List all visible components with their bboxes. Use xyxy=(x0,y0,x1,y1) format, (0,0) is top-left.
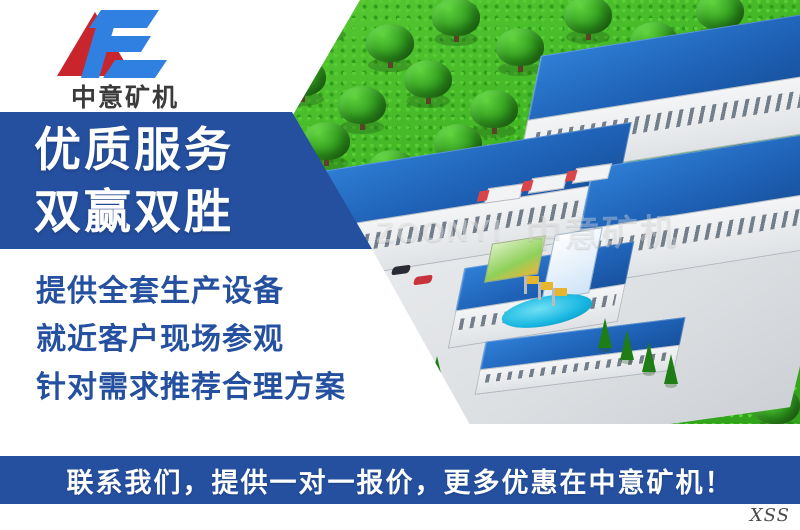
flag-icon xyxy=(552,288,555,306)
cta-banner-text: 联系我们，提供一对一报价，更多优惠在中意矿机！ xyxy=(67,461,734,500)
cta-banner[interactable]: 联系我们，提供一对一报价，更多优惠在中意矿机！ xyxy=(0,456,800,504)
white-strip-bottom xyxy=(0,424,800,456)
brand-logo-text: 中意矿机 xyxy=(55,78,195,114)
tree-icon xyxy=(430,0,482,50)
footer-watermark: XSS xyxy=(750,505,790,526)
conifer-tree-icon xyxy=(664,354,678,388)
flag-icon xyxy=(538,282,541,300)
conifer-tree-icon xyxy=(642,342,656,376)
conifer-tree-icon xyxy=(620,330,634,364)
conifer-tree-icon xyxy=(598,318,612,352)
tree-icon xyxy=(402,60,454,112)
tree-icon xyxy=(562,0,614,48)
brand-logo: 中意矿机 xyxy=(55,6,195,110)
triangle-e-mark-icon xyxy=(55,6,195,82)
flag-icon xyxy=(524,276,527,294)
promo-poster: ZOONYI 中意矿机 中意矿机 优质服务 双赢双胜 提供全套生产设备 就近客户… xyxy=(0,0,800,530)
